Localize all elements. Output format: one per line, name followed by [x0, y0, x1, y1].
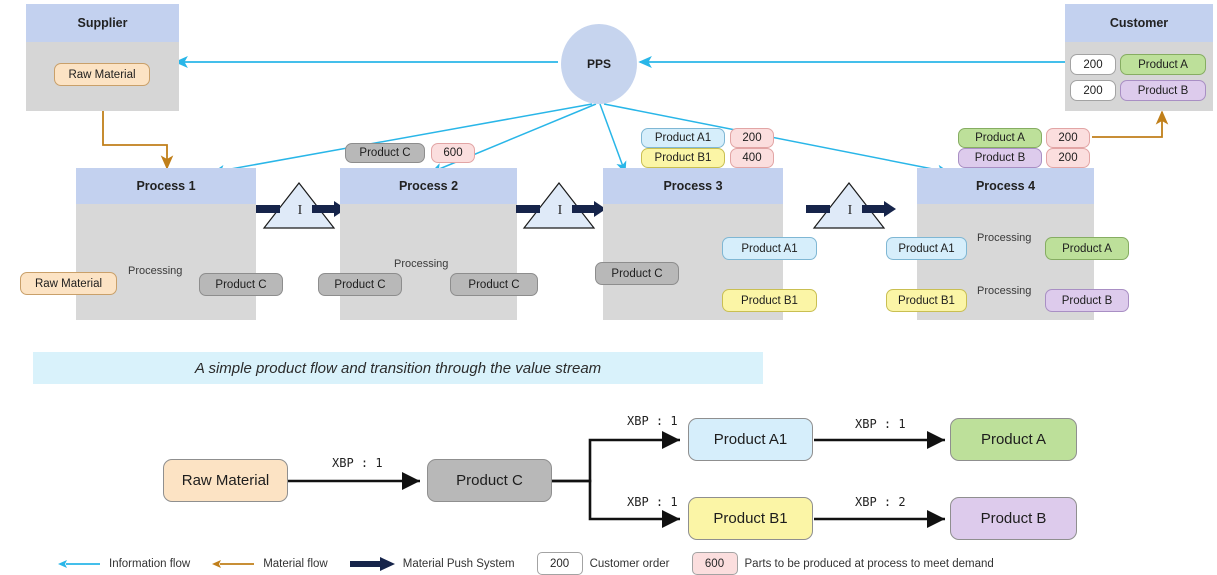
process-2-title: Process 2 — [340, 168, 517, 204]
flow-node-product-a1[interactable]: Product A1 — [688, 418, 813, 461]
pps-label: PPS — [587, 57, 611, 71]
process-1-body — [76, 204, 256, 320]
process-1: Process 1 — [76, 168, 256, 320]
process-2-input-product-c[interactable]: Product C — [318, 273, 402, 296]
customer-order-product-0[interactable]: Product A — [1120, 54, 1206, 75]
process-3-title: Process 3 — [603, 168, 783, 204]
process-4-demand-product-0[interactable]: Product A — [958, 128, 1042, 148]
process-1-edge-label: Processing — [128, 265, 182, 277]
flow-node-product-a[interactable]: Product A — [950, 418, 1077, 461]
legend-label-material-flow: Material flow — [263, 558, 328, 570]
material-push-arrow-icon — [350, 557, 396, 571]
process-2-output-product-c[interactable]: Product C — [450, 273, 538, 296]
process-3-demand-qty-1[interactable]: 400 — [730, 148, 774, 168]
process-4-demand-qty-0[interactable]: 200 — [1046, 128, 1090, 148]
process-4-demand-qty-1[interactable]: 200 — [1046, 148, 1090, 168]
process-4-title: Process 4 — [917, 168, 1094, 204]
pps-node[interactable]: PPS — [561, 24, 637, 104]
process-4-input-product-b1[interactable]: Product B1 — [886, 289, 967, 312]
legend-key-customer-order: 200 — [537, 552, 583, 575]
flow-edge-label-3: XBP : 1 — [855, 417, 906, 431]
customer-box: Customer 200 Product A 200 Product B — [1065, 4, 1213, 111]
flow-edge-label-2: XBP : 1 — [627, 495, 678, 509]
process-1-output-product-c[interactable]: Product C — [199, 273, 283, 296]
flow-node-product-b[interactable]: Product B — [950, 497, 1077, 540]
legend-key-demand-parts: 600 — [692, 552, 738, 575]
process-1-input-raw-material[interactable]: Raw Material — [20, 272, 117, 295]
caption-text: A simple product flow and transition thr… — [195, 360, 601, 377]
process-3-demand-qty-0[interactable]: 200 — [730, 128, 774, 148]
flow-edge-label-0: XBP : 1 — [332, 456, 383, 470]
legend-label-information-flow: Information flow — [109, 558, 190, 570]
legend-item-material-push: Material Push System — [350, 557, 515, 571]
process-4-edge-label-1: Processing — [977, 285, 1031, 297]
process-2-demand-product-0[interactable]: Product C — [345, 143, 425, 163]
inventory-marker-2: I — [553, 203, 567, 219]
customer-order-qty-1[interactable]: 200 — [1070, 80, 1116, 101]
process-2-demand-qty-0[interactable]: 600 — [431, 143, 475, 163]
process-2-edge-label: Processing — [394, 258, 448, 270]
legend-label-material-push: Material Push System — [403, 558, 515, 570]
material-flow-arrow-icon — [212, 558, 256, 570]
supplier-body: Raw Material — [26, 42, 179, 111]
process-2: Process 2 — [340, 168, 517, 320]
process-1-title: Process 1 — [76, 168, 256, 204]
process-4-demand-product-1[interactable]: Product B — [958, 148, 1042, 168]
supplier-box: Supplier Raw Material — [26, 4, 179, 111]
flow-node-product-b1[interactable]: Product B1 — [688, 497, 813, 540]
process-3-demand-product-0[interactable]: Product A1 — [641, 128, 725, 148]
supplier-title: Supplier — [26, 4, 179, 42]
flow-node-raw-material[interactable]: Raw Material — [163, 459, 288, 502]
legend-item-demand-parts: 600 Parts to be produced at process to m… — [692, 552, 994, 575]
process-3-demand-product-1[interactable]: Product B1 — [641, 148, 725, 168]
process-3-input-product-c[interactable]: Product C — [595, 262, 679, 285]
information-flow-arrow-icon — [58, 558, 102, 570]
legend-item-material-flow: Material flow — [212, 558, 328, 570]
legend-item-information-flow: Information flow — [58, 558, 190, 570]
flow-edge-label-1: XBP : 1 — [627, 414, 678, 428]
inventory-marker-1: I — [293, 203, 307, 219]
process-3-output-product-b1[interactable]: Product B1 — [722, 289, 817, 312]
customer-order-product-1[interactable]: Product B — [1120, 80, 1206, 101]
customer-order-qty-0[interactable]: 200 — [1070, 54, 1116, 75]
process-4-output-product-a[interactable]: Product A — [1045, 237, 1129, 260]
process-4-edge-label-0: Processing — [977, 232, 1031, 244]
legend-label-demand-parts: Parts to be produced at process to meet … — [745, 558, 994, 570]
process-3-output-product-a1[interactable]: Product A1 — [722, 237, 817, 260]
supplier-raw-material-chip[interactable]: Raw Material — [54, 63, 150, 86]
legend: Information flow Material flow Material … — [58, 552, 1016, 575]
legend-item-customer-order: 200 Customer order — [537, 552, 670, 575]
process-4-output-product-b[interactable]: Product B — [1045, 289, 1129, 312]
customer-body: 200 Product A 200 Product B — [1065, 42, 1213, 111]
flow-edge-label-4: XBP : 2 — [855, 495, 906, 509]
customer-title: Customer — [1065, 4, 1213, 42]
flow-node-product-c[interactable]: Product C — [427, 459, 552, 502]
caption-band: A simple product flow and transition thr… — [33, 352, 763, 384]
inventory-marker-3: I — [843, 203, 857, 219]
process-4-input-product-a1[interactable]: Product A1 — [886, 237, 967, 260]
legend-label-customer-order: Customer order — [590, 558, 670, 570]
